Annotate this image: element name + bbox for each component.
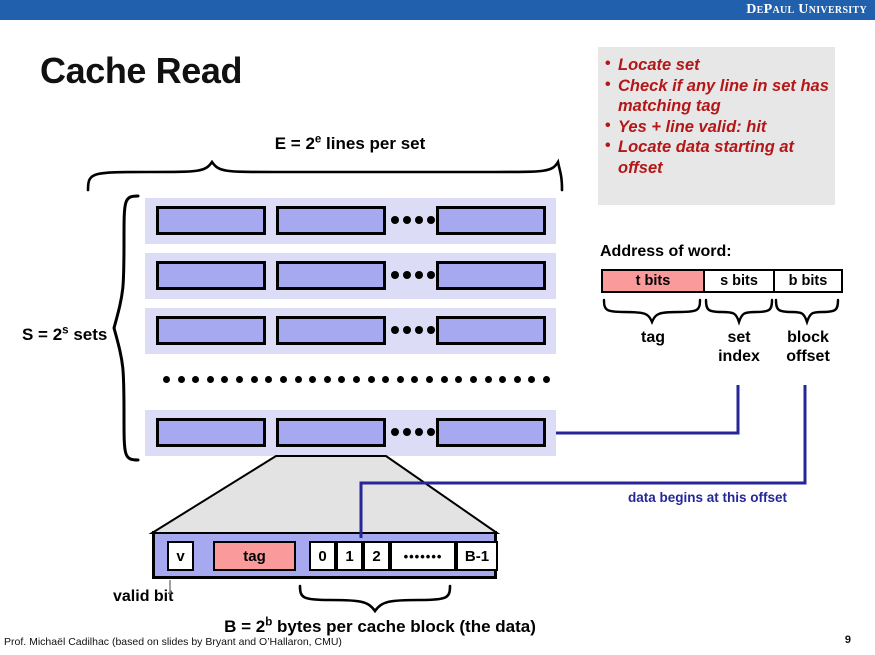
ellipsis-dot [353,376,360,383]
address-sublabel-tag: tag [613,328,693,347]
cache-line-box[interactable] [436,418,546,447]
block-offset-connector [361,385,805,538]
list-item: Check if any line in set has matching ta… [604,76,836,117]
block-bytes-brace [300,586,450,611]
ellipsis-dot [426,376,433,383]
cache-set-row[interactable] [145,253,556,299]
block-offset-line2: offset [786,348,830,365]
ellipsis-dot [528,376,535,383]
cache-set-row[interactable] [145,308,556,354]
data-byte-cell-last[interactable]: B-1 [456,541,498,571]
set-index-line2: index [718,348,760,365]
row-ellipsis-dots [391,216,433,225]
valid-bit-cell[interactable]: v [167,541,194,571]
sets-prefix: S = 2 [22,325,62,344]
page-number: 9 [845,634,851,646]
address-sublabel-set-index: set index [703,328,775,366]
address-caption: Address of word: [600,243,732,261]
address-sublabel-block-offset: block offset [771,328,845,366]
data-byte-cell-selected[interactable]: 2 [363,541,390,571]
ellipsis-dot [514,376,521,383]
ellipsis-dot [178,376,185,383]
list-item: Yes + line valid: hit [604,117,836,138]
block-bytes-label: B = 2b bytes per cache block (the data) [224,617,536,637]
ellipsis-dot [543,376,550,383]
cache-line-box[interactable] [276,206,386,235]
row-ellipsis-dots [391,271,433,280]
valid-bit-label: valid bit [113,588,173,606]
ellipsis-dot [236,376,243,383]
notes-list: Locate set Check if any line in set has … [604,55,836,178]
ellipsis-dot [470,376,477,383]
ellipsis-dot [382,376,389,383]
block-bytes-suffix: bytes per cache block (the data) [272,617,536,636]
cache-line-box[interactable] [276,261,386,290]
ellipsis-dot [265,376,272,383]
ellipsis-dot [338,376,345,383]
cache-line-box-selected[interactable] [276,418,386,447]
ellipsis-dot [455,376,462,383]
cache-line-box[interactable] [276,316,386,345]
ellipsis-dot [368,376,375,383]
list-item: Locate data starting at offset [604,137,836,178]
footer-credit: Prof. Michaël Cadilhac (based on slides … [4,636,342,648]
sets-suffix: sets [69,325,108,344]
lines-per-set-label: E = 2e lines per set [275,134,426,154]
lines-per-set-suffix: lines per set [321,134,425,153]
sets-label: S = 2s sets [22,325,107,345]
ellipsis-dot [411,376,418,383]
tag-brace [604,300,700,322]
lines-per-set-brace [88,162,562,190]
data-byte-cell[interactable]: 0 [309,541,336,571]
cache-line-box[interactable] [436,206,546,235]
cache-line-box[interactable] [156,316,266,345]
block-offset-line1: block [787,329,829,346]
set-index-brace [706,300,772,322]
data-byte-cell[interactable]: 1 [336,541,363,571]
ellipsis-dot [192,376,199,383]
sets-brace [114,196,138,460]
ellipsis-dot [280,376,287,383]
page-title: Cache Read [40,50,242,92]
list-item: Locate set [604,55,836,76]
ellipsis-dot [324,376,331,383]
block-bytes-prefix: B = 2 [224,617,265,636]
cache-set-row-selected[interactable] [145,410,556,456]
set-index-connector [556,385,738,433]
zoom-trapezoid [152,456,497,533]
ellipsis-dot [163,376,170,383]
address-field-block-bits[interactable]: b bits [773,269,843,293]
address-field-tag-bits[interactable]: t bits [601,269,705,293]
data-byte-ellipsis-cell: ••••••• [390,541,456,571]
row-ellipsis-dots [391,428,433,437]
ellipsis-dot [295,376,302,383]
ellipsis-dot [221,376,228,383]
cache-line-box[interactable] [436,316,546,345]
address-field-set-bits[interactable]: s bits [703,269,775,293]
ellipsis-dot [485,376,492,383]
block-offset-brace [776,300,838,322]
cache-line-box[interactable] [156,206,266,235]
sets-ellipsis-dots [163,376,543,384]
ellipsis-dot [207,376,214,383]
ellipsis-dot [251,376,258,383]
ellipsis-dot [441,376,448,383]
ellipsis-dot [499,376,506,383]
row-ellipsis-dots [391,326,433,335]
lines-per-set-prefix: E = 2 [275,134,315,153]
ellipsis-dot [397,376,404,383]
cache-line-box[interactable] [156,418,266,447]
tag-cell[interactable]: tag [213,541,296,571]
cache-set-row[interactable] [145,198,556,244]
brand-logo-text: DePaul University [746,2,867,18]
expanded-cache-line[interactable]: v tag 0 1 2 ••••••• B-1 [152,531,497,579]
data-offset-note: data begins at this offset [628,490,787,505]
set-index-line1: set [727,329,750,346]
cache-line-box[interactable] [156,261,266,290]
header-bar [0,0,875,20]
ellipsis-dot [309,376,316,383]
cache-line-box[interactable] [436,261,546,290]
